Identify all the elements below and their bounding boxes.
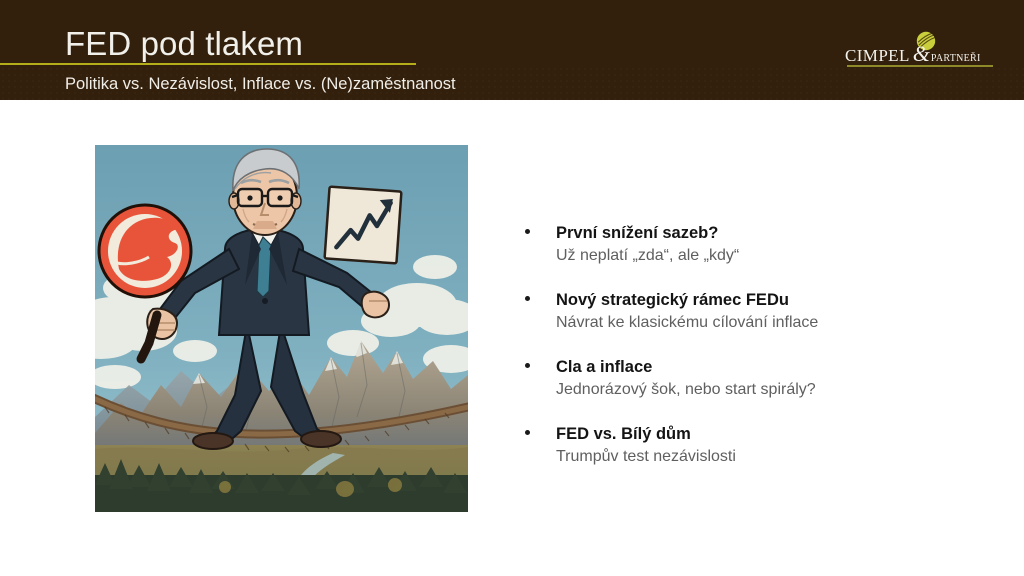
list-item: První snížení sazeb? Už neplatí „zda“, a… [518, 222, 938, 267]
slide-illustration [95, 145, 468, 512]
bullet-subtext: Trumpův test nezávislosti [556, 445, 938, 468]
title-underline-rule [0, 63, 416, 65]
brand-logo: CIMPEL&PARTNEŘI [845, 30, 995, 70]
logo-underline-rule [847, 65, 993, 67]
logo-ampersand: & [910, 41, 931, 66]
bullet-headline: Cla a inflace [556, 356, 938, 378]
bullet-headline: První snížení sazeb? [556, 222, 938, 244]
logo-partners-text: PARTNEŘI [931, 50, 981, 65]
bullet-subtext: Jednorázový šok, nebo start spirály? [556, 378, 938, 401]
bullet-subtext: Už neplatí „zda“, ale „kdy“ [556, 244, 938, 267]
logo-wordmark: CIMPEL&PARTNEŘI [845, 41, 995, 67]
bullet-point-icon [525, 430, 530, 435]
bullet-headline: FED vs. Bílý dům [556, 423, 938, 445]
bullet-point-icon [525, 296, 530, 301]
list-item: Cla a inflace Jednorázový šok, nebo star… [518, 356, 938, 401]
bullet-point-icon [525, 229, 530, 234]
page-subtitle: Politika vs. Nezávislost, Inflace vs. (N… [65, 73, 456, 95]
list-item: FED vs. Bílý dům Trumpův test nezávislos… [518, 423, 938, 468]
list-item: Nový strategický rámec FEDu Návrat ke kl… [518, 289, 938, 334]
bullet-point-icon [525, 363, 530, 368]
bullet-headline: Nový strategický rámec FEDu [556, 289, 938, 311]
bullet-list: První snížení sazeb? Už neplatí „zda“, a… [518, 222, 938, 468]
logo-name-text: CIMPEL [845, 41, 910, 67]
page-title: FED pod tlakem [65, 24, 303, 64]
bullet-subtext: Návrat ke klasickému cílování inflace [556, 311, 938, 334]
